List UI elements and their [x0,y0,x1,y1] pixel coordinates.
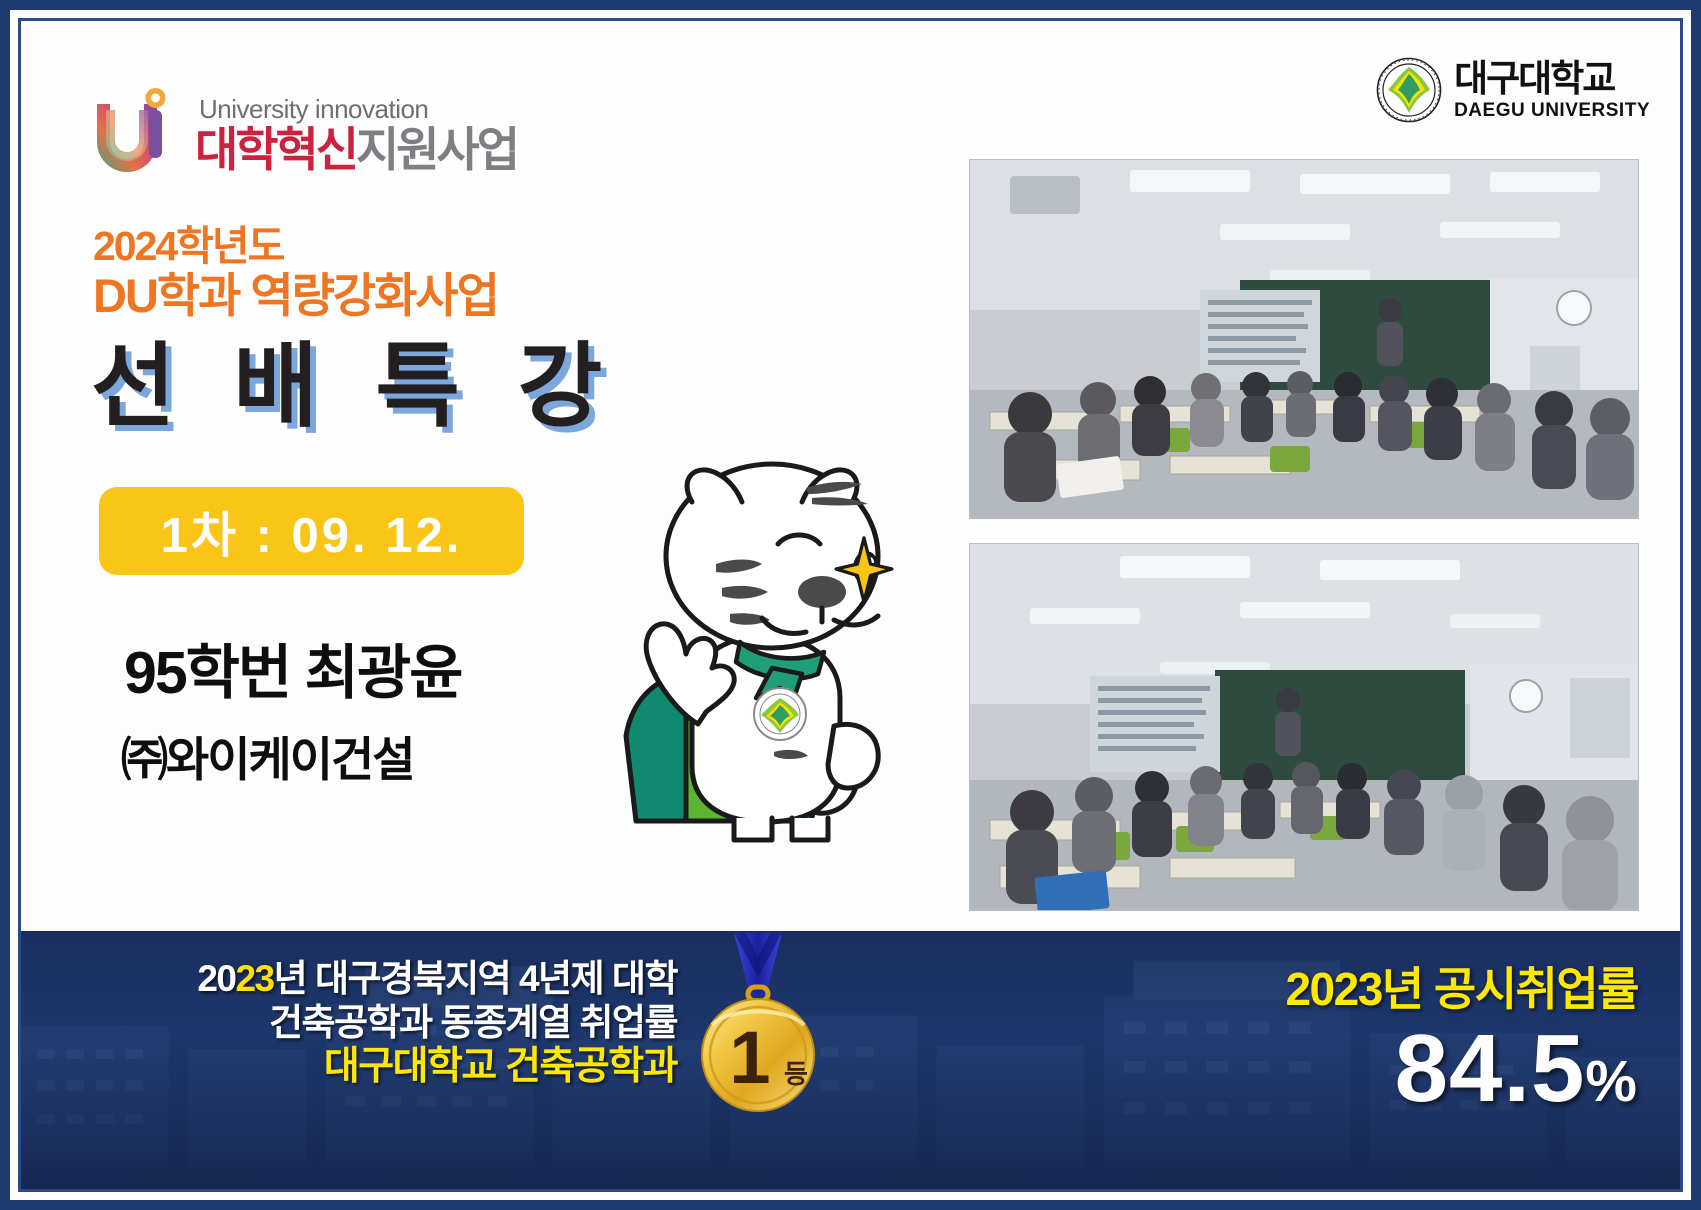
daegu-university-name-kr: 대구대학교 [1454,60,1650,97]
banner-year-highlight: 23 [235,958,273,999]
university-innovation-logo: University innovation 대학혁신지원사업 [89,79,549,189]
speaker-company: ㈜와이케이건설 [121,721,413,790]
tiger-mascot-icon [566,436,936,846]
banner-line-1: 2023년 대구경북지역 4년제 대학 [77,957,677,1001]
uij-title-gray: 지원사업 [356,123,517,176]
page-title: 선 배 특 강 [91,341,618,433]
uij-subtitle: University innovation [199,96,517,122]
employment-rate-unit: % [1585,1049,1638,1114]
bottom-achievement-banner: 2023년 대구경북지역 4년제 대학 건축공학과 동종계열 취업률 대구대학교… [21,931,1680,1189]
uij-title: 대학혁신지원사업 [195,126,517,173]
employment-rate-block: 2023년 공시취업률 84.5% [1285,953,1638,1117]
banner-year-prefix: 20 [197,958,235,999]
uij-text-block: University innovation 대학혁신지원사업 [195,96,517,173]
lecture-photo-top [969,159,1639,519]
uij-title-red: 대학혁신 [195,123,356,176]
employment-rate-value: 84.5 [1395,1015,1586,1122]
banner-line-3: 대구대학교 건축공학과 [77,1044,677,1090]
poster-inner-frame: University innovation 대학혁신지원사업 대구대학교 DAE… [18,18,1683,1192]
session-date-text: 1차 : 09. 12. [161,496,463,567]
session-date-badge: 1차 : 09. 12. [99,487,524,575]
daegu-university-names: 대구대학교 DAEGU UNIVERSITY [1454,60,1650,120]
speaker-name: 95학번 최광윤 [124,625,461,710]
employment-rate-value-block: 84.5% [1285,1021,1638,1117]
program-title-block: 2024학년도 DU학과 역량강화사업 [93,224,498,323]
employment-rate-label: 2023년 공시취업률 [1285,953,1638,1019]
poster-root: University innovation 대학혁신지원사업 대구대학교 DAE… [0,0,1701,1210]
employment-rank-text: 2023년 대구경북지역 4년제 대학 건축공학과 동종계열 취업률 대구대학교… [77,957,677,1090]
daegu-university-seal-icon [1376,57,1442,123]
daegu-university-logo: 대구대학교 DAEGU UNIVERSITY [1376,57,1650,123]
medal-rank-number: 1 [729,1016,770,1099]
program-year: 2024학년도 [93,224,498,270]
gold-medal-icon: 1 등 [678,933,838,1123]
daegu-university-name-en: DAEGU UNIVERSITY [1454,101,1650,120]
lecture-photo-bottom [969,543,1639,911]
medal-rank-suffix: 등 [784,1059,808,1089]
banner-line-2: 건축공학과 동종계열 취업률 [77,1001,677,1045]
program-name: DU학과 역량강화사업 [93,270,498,323]
banner-line-1-rest: 년 대구경북지역 4년제 대학 [274,958,677,999]
uij-mark-icon [89,86,181,182]
